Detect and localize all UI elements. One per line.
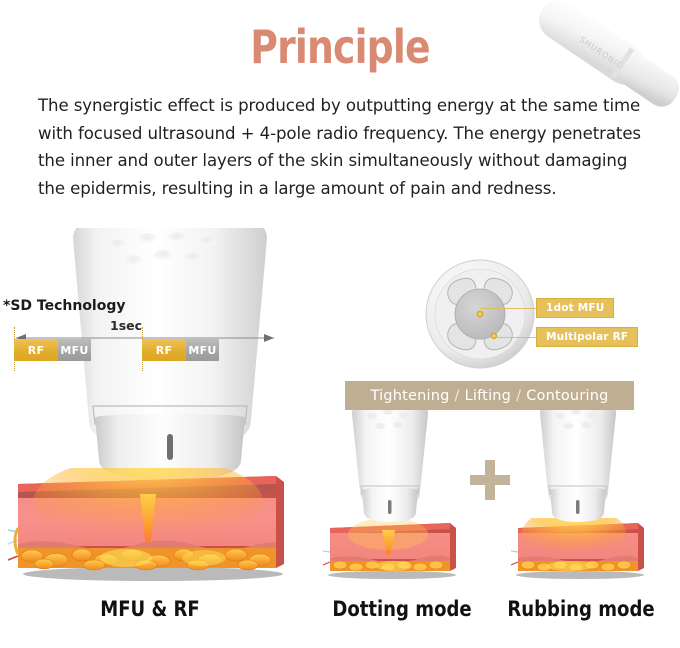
skin-cross-section-mfu-rf xyxy=(8,468,293,583)
callout-label: Multipolar RF xyxy=(536,327,638,347)
description-paragraph: The synergistic effect is produced by ou… xyxy=(38,92,644,202)
principle-infographic: SHURONIC xyxy=(0,0,680,648)
timing-cycle-1: RF MFU xyxy=(14,339,91,361)
rf-segment: RF xyxy=(14,339,58,361)
main-handpiece-illustration xyxy=(55,228,285,498)
benefits-banner: Tightening / Lifting / Contouring xyxy=(345,381,634,410)
mfu-segment: MFU xyxy=(186,339,219,361)
caption-dotting-mode: Dotting mode xyxy=(325,597,480,621)
sd-technology-label: *SD Technology xyxy=(3,298,126,314)
benefit-contouring: Contouring xyxy=(526,388,608,404)
callout-label: 1dot MFU xyxy=(536,298,614,318)
leader-line xyxy=(494,337,536,338)
separator: / xyxy=(516,388,521,404)
rf-mfu-timing-bars: RF MFU RF MFU xyxy=(0,339,290,363)
callout-1dot-mfu: 1dot MFU xyxy=(480,298,614,318)
caption-mfu-rf: MFU & RF xyxy=(73,597,228,621)
page-title: Principle xyxy=(61,22,619,72)
benefit-tightening: Tightening xyxy=(370,388,449,404)
rubbing-mode-handpiece xyxy=(518,408,638,533)
timing-cycle-2: RF MFU xyxy=(142,339,219,361)
dotting-mode-handpiece xyxy=(330,408,450,533)
callout-multipolar-rf: Multipolar RF xyxy=(494,327,638,347)
mfu-segment: MFU xyxy=(58,339,91,361)
separator: / xyxy=(455,388,460,404)
rf-segment: RF xyxy=(142,339,186,361)
benefit-lifting: Lifting xyxy=(465,388,511,404)
caption-rubbing-mode: Rubbing mode xyxy=(499,597,662,621)
plus-icon xyxy=(470,460,510,500)
leader-line xyxy=(480,308,536,309)
